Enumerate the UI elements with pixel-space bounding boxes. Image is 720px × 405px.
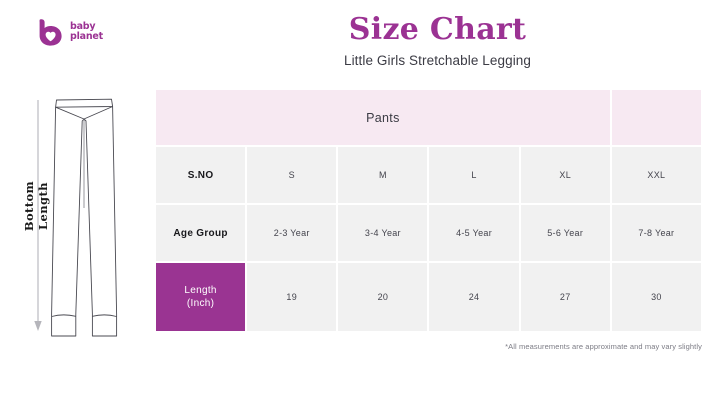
row-label-age-group: Age Group bbox=[155, 204, 246, 262]
table-row: Age Group 2-3 Year 3-4 Year 4-5 Year 5-6… bbox=[155, 204, 702, 262]
cell-age-m: 3-4 Year bbox=[337, 204, 428, 262]
row-label-sno: S.NO bbox=[155, 146, 246, 204]
cell-length-l: 24 bbox=[428, 262, 519, 332]
cell-length-xxl: 30 bbox=[611, 262, 702, 332]
footnote-disclaimer: *All measurements are approximate and ma… bbox=[505, 342, 702, 351]
page-title: Size Chart bbox=[155, 14, 720, 46]
group-header-pants: Pants bbox=[155, 89, 611, 146]
table-row: S.NO S M L XL XXL bbox=[155, 146, 702, 204]
page-subtitle: Little Girls Stretchable Legging bbox=[155, 53, 720, 68]
cell-length-s: 19 bbox=[246, 262, 337, 332]
cell-age-xxl: 7-8 Year bbox=[611, 204, 702, 262]
cell-age-l: 4-5 Year bbox=[428, 204, 519, 262]
row-label-length-line1: Length bbox=[156, 284, 245, 298]
row-label-length: Length (Inch) bbox=[155, 262, 246, 332]
baby-planet-b-heart-logo-icon bbox=[38, 18, 64, 46]
cell-age-s: 2-3 Year bbox=[246, 204, 337, 262]
cell-size-xxl: XXL bbox=[611, 146, 702, 204]
title-block: Size Chart Little Girls Stretchable Legg… bbox=[155, 14, 720, 68]
cell-length-m: 20 bbox=[337, 262, 428, 332]
cell-size-l: L bbox=[428, 146, 519, 204]
brand-logo: baby planet bbox=[38, 18, 103, 46]
size-chart-table: Pants S.NO S M L XL XXL Age Group 2-3 Ye… bbox=[155, 89, 702, 332]
table-row: Length (Inch) 19 20 24 27 30 bbox=[155, 262, 702, 332]
cell-age-xl: 5-6 Year bbox=[520, 204, 611, 262]
brand-wordmark: baby planet bbox=[70, 22, 103, 41]
measure-label: Bottom Length bbox=[22, 158, 50, 254]
cell-size-xl: XL bbox=[520, 146, 611, 204]
cell-length-xl: 27 bbox=[520, 262, 611, 332]
page-header: baby planet Size Chart Little Girls Stre… bbox=[0, 0, 720, 88]
row-label-length-line2: (Inch) bbox=[156, 297, 245, 311]
table-header-row: Pants bbox=[155, 89, 702, 146]
group-header-spacer bbox=[611, 89, 702, 146]
brand-name-line2: planet bbox=[70, 32, 103, 42]
cell-size-s: S bbox=[246, 146, 337, 204]
cell-size-m: M bbox=[337, 146, 428, 204]
product-illustration: Bottom Length bbox=[18, 88, 154, 350]
